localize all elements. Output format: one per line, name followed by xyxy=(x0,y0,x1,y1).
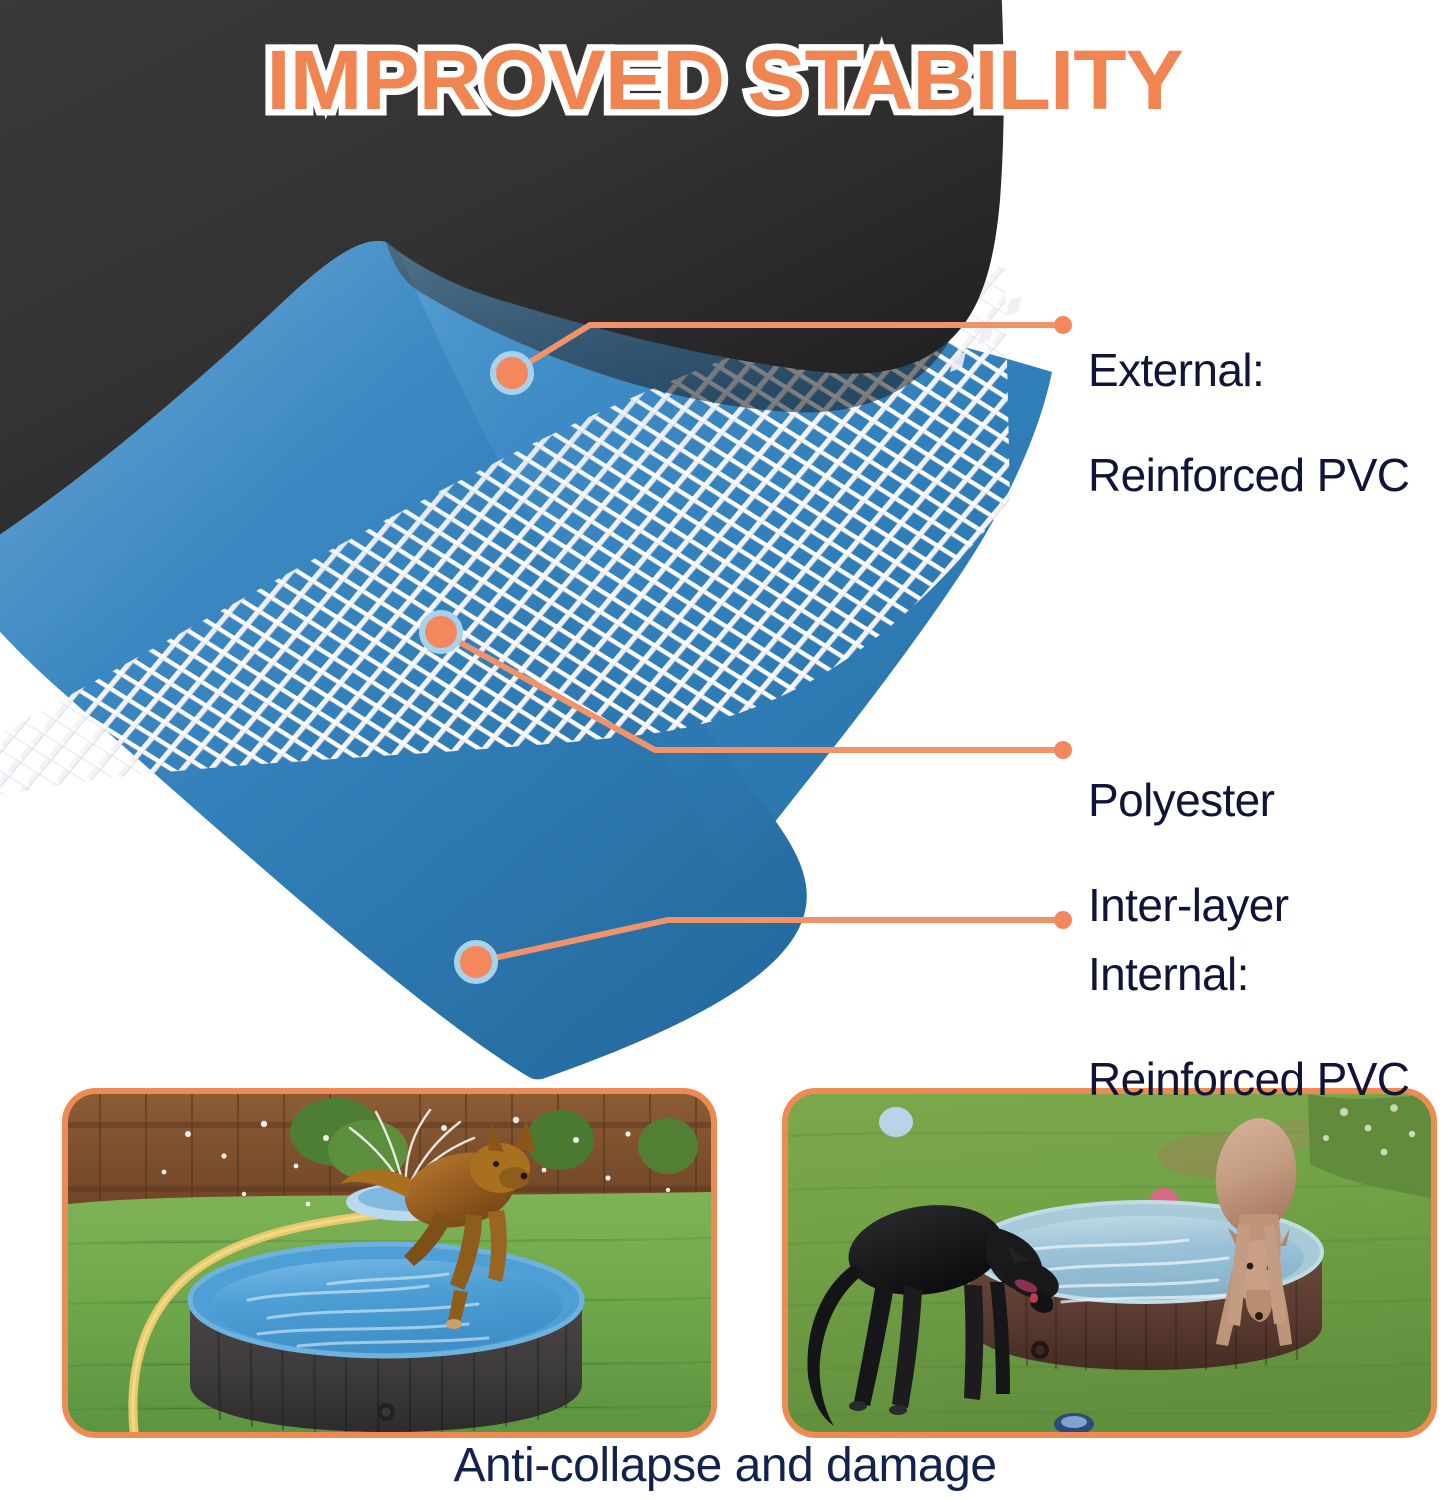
photo-dog-jumping-into-pool xyxy=(62,1088,717,1438)
endpoint-dot-external xyxy=(1054,316,1072,334)
photo-left-canvas xyxy=(68,1094,711,1432)
callout-label-external: External: Reinforced PVC xyxy=(1088,292,1409,554)
callout-label-internal: Internal: Reinforced PVC xyxy=(1088,896,1409,1158)
anchor-dot-external xyxy=(493,354,531,392)
callout-internal-line1: Internal: xyxy=(1088,948,1409,1000)
dog-nose xyxy=(1255,1312,1263,1320)
gallery-caption: Anti-collapse and damage xyxy=(0,1438,1450,1493)
anchor-dot-polyester xyxy=(422,613,460,651)
callout-external-line1: External: xyxy=(1088,344,1409,396)
collar-tag xyxy=(1030,1293,1038,1303)
endpoint-dot-internal xyxy=(1054,911,1072,929)
endpoint-dot-polyester xyxy=(1054,741,1072,759)
pool-water xyxy=(210,1259,562,1353)
anchor-dot-internal xyxy=(457,943,495,981)
callout-external-line2: Reinforced PVC xyxy=(1088,449,1409,501)
foldable-pool xyxy=(190,1244,582,1432)
shrub xyxy=(526,1110,594,1170)
dog-paw xyxy=(446,1319,462,1329)
callout-internal-line2: Reinforced PVC xyxy=(1088,1053,1409,1105)
callout-polyester-line1: Polyester xyxy=(1088,774,1288,826)
infographic-stage: IMPROVED STABILITY External: Reinforced … xyxy=(0,0,1450,1500)
blue-ball-toy xyxy=(879,1107,913,1137)
